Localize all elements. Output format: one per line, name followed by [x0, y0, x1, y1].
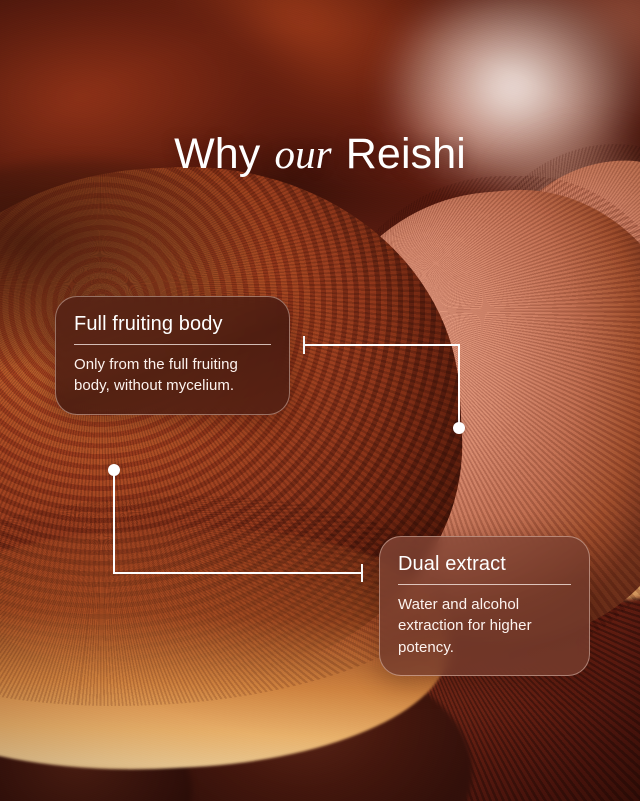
page-title-part-1: Why [174, 130, 272, 178]
page-title: Why our Reishi [0, 133, 640, 176]
card-full-fruiting-body-divider [74, 344, 271, 345]
card-dual-extract-title: Dual extract [398, 553, 571, 575]
page-title-emphasis: our [272, 131, 333, 177]
card-full-fruiting-body-title: Full fruiting body [74, 313, 271, 335]
card-dual-extract-description: Water and alcohol extraction for higher … [398, 594, 571, 658]
card-dual-extract: Dual extract Water and alcohol extractio… [379, 536, 590, 676]
card-full-fruiting-body: Full fruiting body Only from the full fr… [55, 296, 290, 415]
page-title-part-2: Reishi [334, 130, 466, 178]
reishi-benefits-graphic: Why our Reishi Full fruiting body Only f… [0, 0, 640, 801]
card-full-fruiting-body-description: Only from the full fruiting body, withou… [74, 354, 271, 397]
card-dual-extract-divider [398, 584, 571, 585]
